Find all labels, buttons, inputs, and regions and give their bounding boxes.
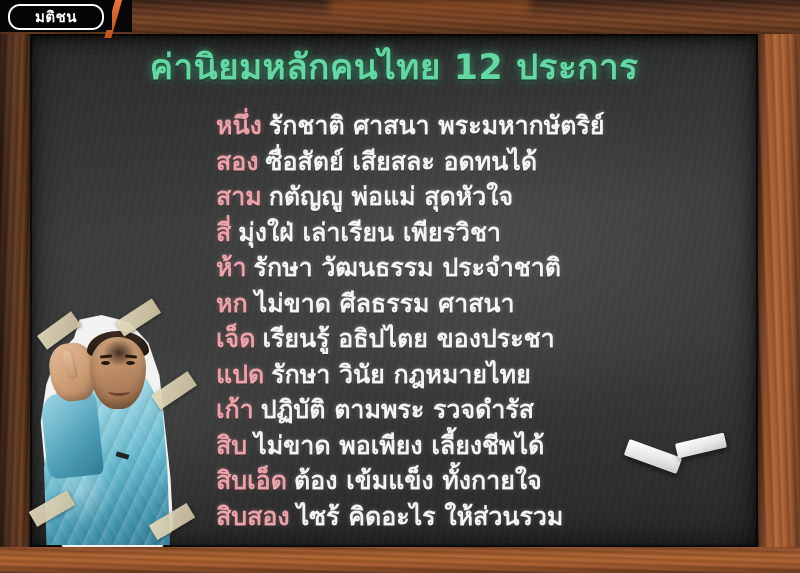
value-number: หนึ่ง (216, 111, 262, 140)
value-text: ไซร้ คิดอะไร ให้ส่วนรวม (297, 502, 564, 531)
frame-top-highlight (330, 0, 530, 20)
value-number: หก (216, 289, 248, 318)
photo-eye (101, 361, 110, 365)
value-number: สอง (216, 147, 258, 176)
photo-eye (126, 361, 135, 365)
value-text: ไม่ขาด ศีลธรรม ศาสนา (255, 289, 515, 318)
value-row: หกไม่ขาด ศีลธรรม ศาสนา (216, 286, 736, 322)
frame-bottom-rail (0, 547, 800, 573)
value-number: สิบ (216, 431, 247, 460)
photo-mouth (108, 387, 130, 396)
value-number: สิบเอ็ด (216, 466, 287, 495)
photo-sleeve (40, 390, 104, 479)
value-number: สี่ (216, 218, 231, 247)
value-text: เรียนรู้ อธิปไตย ของประชา (262, 324, 554, 353)
value-number: สาม (216, 182, 262, 211)
value-text: รักษา วินัย กฎหมายไทย (271, 360, 531, 389)
screenshot-root: ค่านิยมหลักคนไทย 12 ประการ หนึ่งรักชาติ … (0, 0, 800, 573)
blackboard-title: ค่านิยมหลักคนไทย 12 ประการ (30, 50, 758, 87)
value-row: สามกตัญญู พ่อแม่ สุดหัวใจ (216, 179, 736, 215)
watermark-plate: มติชน (0, 0, 112, 30)
value-text: ซื่อสัตย์ เสียสละ อดทนได้ (265, 147, 537, 176)
frame-left-rail (0, 0, 30, 573)
value-text: ต้อง เข้มแข็ง ทั้งกายใจ (294, 466, 542, 495)
value-number: เจ็ด (216, 324, 255, 353)
value-row: สี่มุ่งใฝ่ เล่าเรียน เพียรวิชา (216, 215, 736, 251)
value-row: สิบไม่ขาด พอเพียง เลี้ยงชีพได้ (216, 428, 736, 464)
value-row: เจ็ดเรียนรู้ อธิปไตย ของประชา (216, 321, 736, 357)
value-row: สิบสองไซร้ คิดอะไร ให้ส่วนรวม (216, 499, 736, 535)
value-row: หนึ่งรักชาติ ศาสนา พระมหากษัตริย์ (216, 108, 736, 144)
value-text: ไม่ขาด พอเพียง เลี้ยงชีพได้ (254, 431, 544, 460)
photo-finger (62, 349, 78, 380)
value-number: สิบสอง (216, 502, 290, 531)
value-text: มุ่งใฝ่ เล่าเรียน เพียรวิชา (238, 218, 501, 247)
value-text: รักษา วัฒนธรรม ประจำชาติ (254, 253, 561, 282)
value-row: แปดรักษา วินัย กฎหมายไทย (216, 357, 736, 393)
photo-face (90, 337, 146, 409)
value-row: สิบเอ็ดต้อง เข้มแข็ง ทั้งกายใจ (216, 463, 736, 499)
value-row: สองซื่อสัตย์ เสียสละ อดทนได้ (216, 144, 736, 180)
value-text: กตัญญู พ่อแม่ สุดหัวใจ (269, 182, 513, 211)
value-text: รักชาติ ศาสนา พระมหากษัตริย์ (269, 111, 605, 140)
value-number: เก้า (216, 395, 254, 424)
value-text: ปฏิบัติ ตามพระ รวจดำรัส (261, 395, 534, 424)
value-number: แปด (216, 360, 264, 389)
value-row: เก้าปฏิบัติ ตามพระ รวจดำรัส (216, 392, 736, 428)
frame-right-rail (758, 0, 800, 573)
value-row: ห้ารักษา วัฒนธรรม ประจำชาติ (216, 250, 736, 286)
core-values-list: หนึ่งรักชาติ ศาสนา พระมหากษัตริย์ สองซื่… (216, 108, 736, 534)
watermark-brand-badge: มติชน (8, 4, 104, 30)
value-number: ห้า (216, 253, 247, 282)
